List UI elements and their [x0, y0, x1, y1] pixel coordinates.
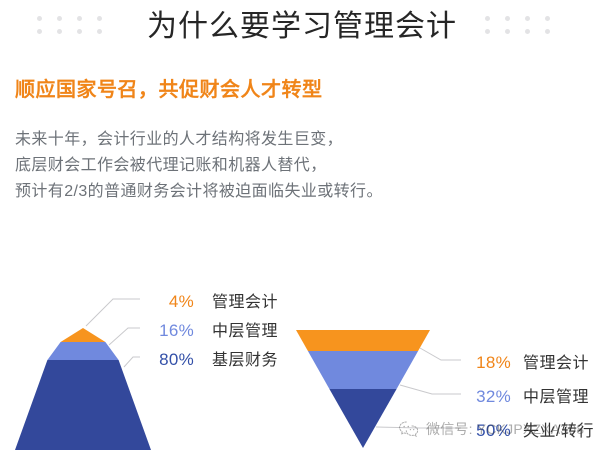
inverted-segment-middle	[308, 351, 418, 389]
legend-value: 32%	[463, 387, 511, 407]
page-header: 为什么要学习管理会计	[0, 0, 604, 62]
body-paragraph: 未来十年，会计行业的人才结构将发生巨变， 底层财会工作会被代理记账和机器人替代，…	[15, 127, 383, 205]
legend-value: 4%	[142, 292, 194, 312]
leader-line-right-top	[420, 348, 461, 360]
body-line: 底层财会工作会被代理记账和机器人替代，	[15, 153, 383, 179]
legend-label: 中层管理	[523, 383, 589, 407]
watermark-text: 微信号: YCKJPXZXA308	[426, 419, 584, 439]
legend-label: 管理会计	[212, 288, 278, 312]
pyramid-segment-top	[61, 328, 106, 342]
legend-item-left-1: 16% 中层管理	[142, 317, 278, 341]
pyramid-segment-base	[15, 360, 151, 450]
wechat-icon	[398, 420, 420, 438]
inverted-segment-top	[296, 330, 430, 351]
leader-line-left-base	[124, 357, 140, 367]
leader-line-left-top	[86, 299, 140, 326]
legend-label: 基层财务	[212, 346, 278, 370]
legend-label: 中层管理	[212, 317, 278, 341]
wechat-watermark: 微信号: YCKJPXZXA308	[398, 419, 584, 439]
legend-item-left-2: 80% 基层财务	[142, 346, 278, 370]
legend-item-left-0: 4% 管理会计	[142, 288, 278, 312]
legend-item-right-1: 32% 中层管理	[463, 383, 589, 407]
legend-label: 管理会计	[523, 349, 589, 373]
leader-line-left-middle	[109, 328, 140, 345]
legend-item-right-0: 18% 管理会计	[463, 349, 589, 373]
body-line: 预计有2/3的普通财务会计将被迫面临失业或转行。	[15, 179, 383, 205]
chart-left-upright-pyramid	[15, 328, 151, 450]
inverted-segment-bottom	[329, 389, 396, 448]
subtitle: 顺应国家号召，共促财会人才转型	[15, 76, 323, 104]
dot-grid-icon-right	[485, 16, 554, 42]
leader-line-right-middle	[400, 385, 461, 394]
legend-value: 16%	[142, 321, 194, 341]
legend-value: 18%	[463, 353, 511, 373]
legend-value: 80%	[142, 350, 194, 370]
pyramid-segment-middle	[47, 342, 118, 360]
body-line: 未来十年，会计行业的人才结构将发生巨变，	[15, 127, 383, 153]
